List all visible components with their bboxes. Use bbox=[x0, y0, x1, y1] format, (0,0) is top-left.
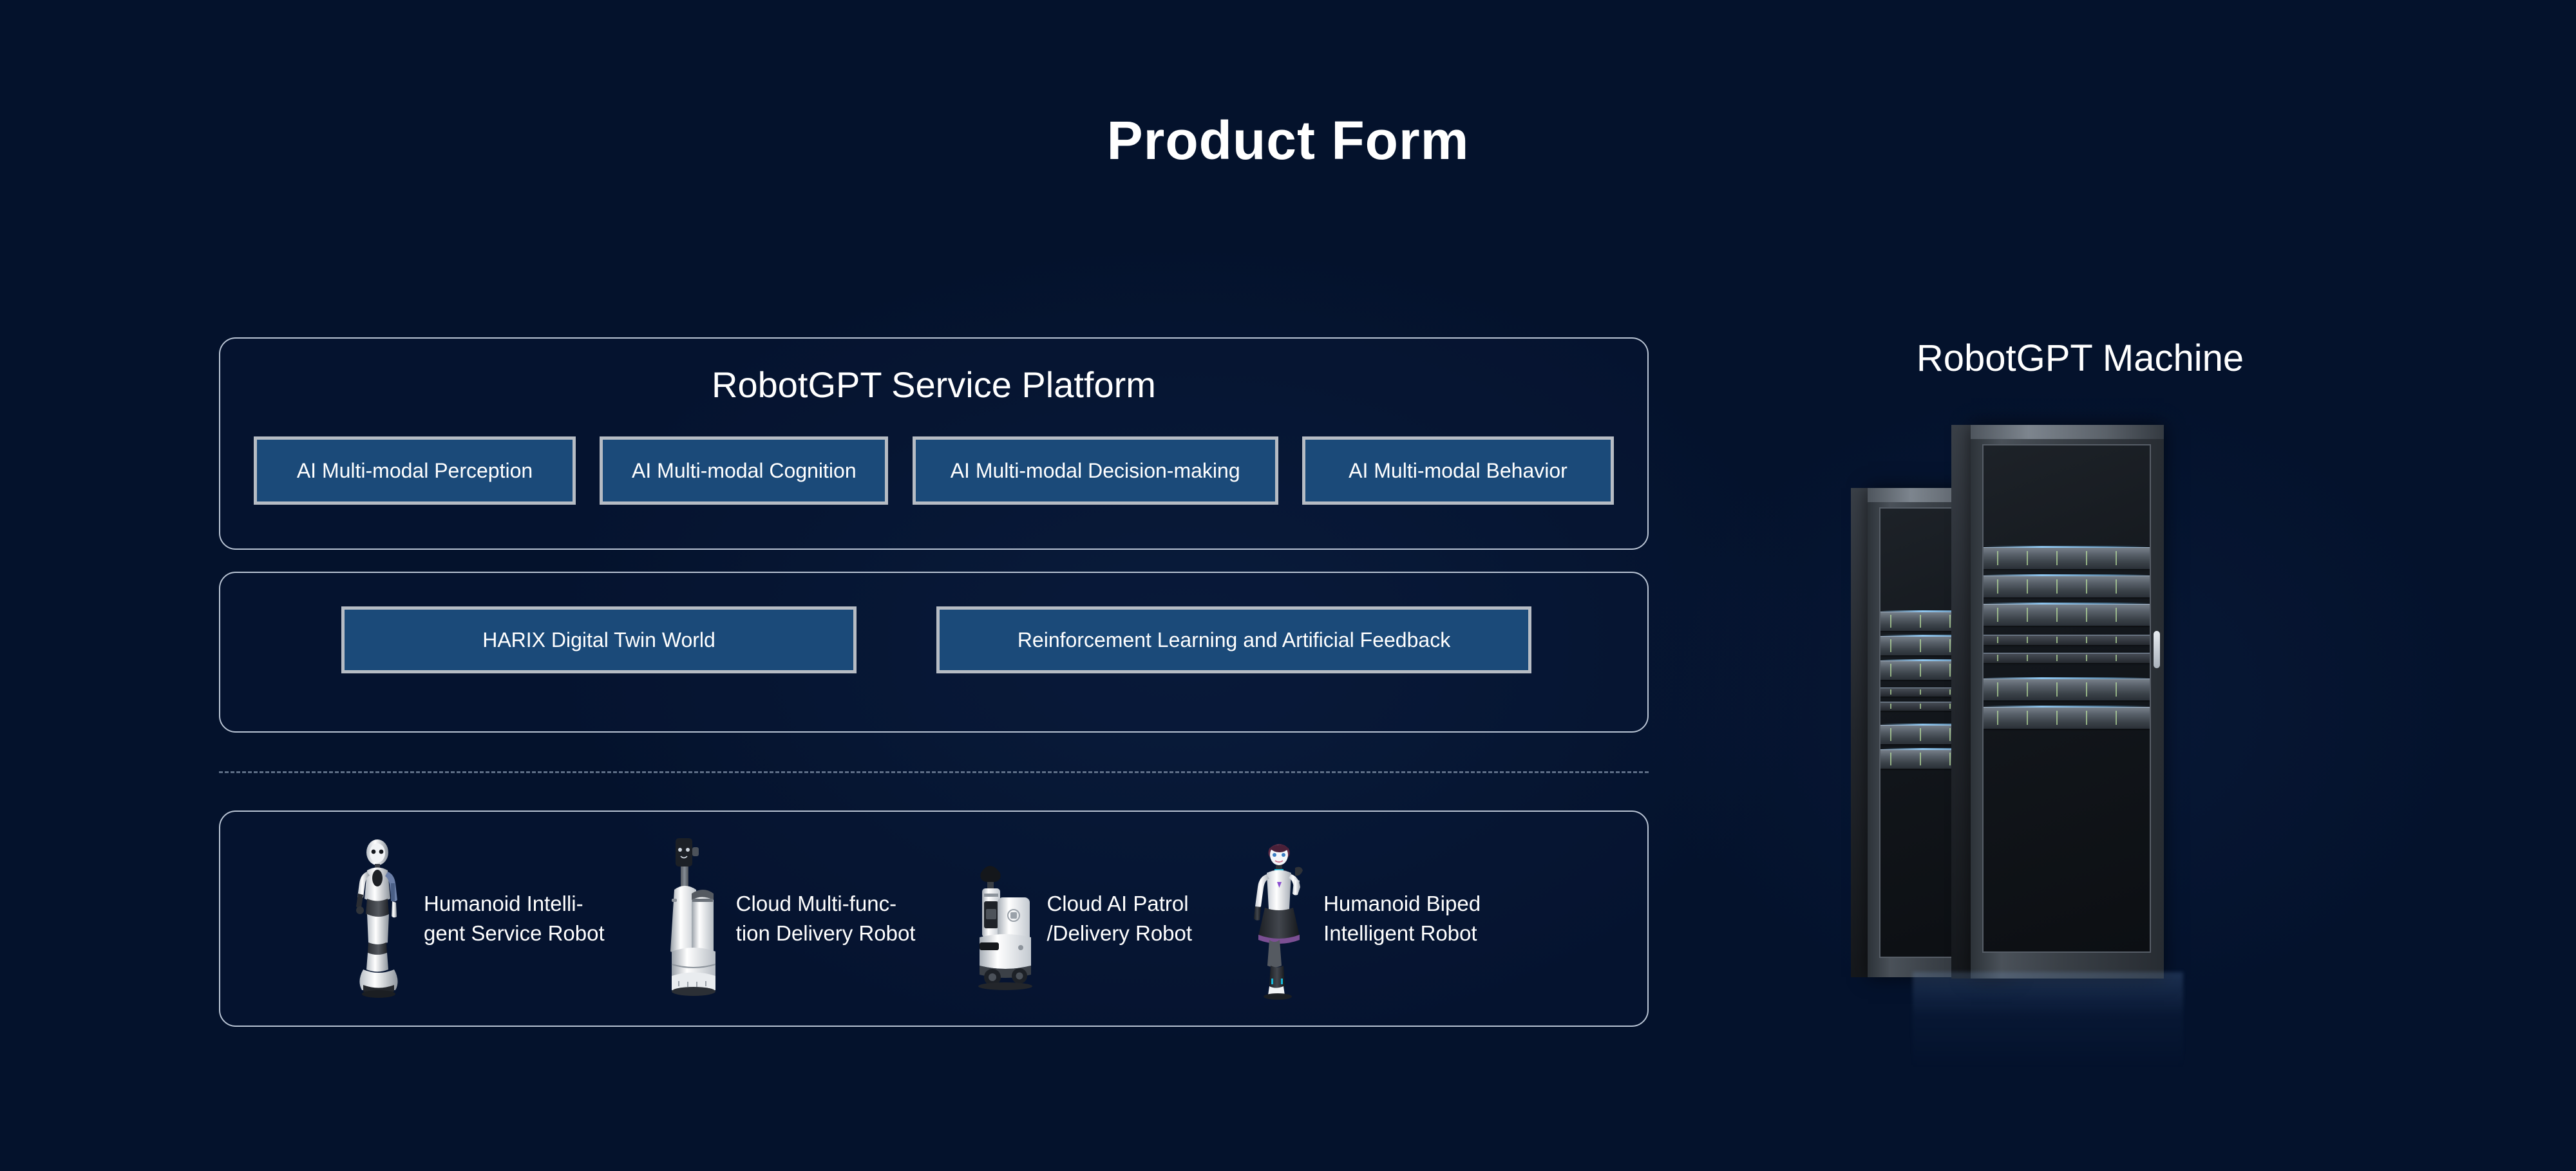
server-rack-icon bbox=[1842, 418, 2318, 1043]
chip-harix-digital-twin-world[interactable]: HARIX Digital Twin World bbox=[341, 606, 857, 673]
list-item[interactable]: Humanoid Intelli- gent Service Robot bbox=[341, 832, 605, 1006]
humanoid-biped-robot-icon bbox=[1241, 832, 1318, 1006]
platform-diagram: RobotGPT Service Platform AI Multi-modal… bbox=[219, 337, 1649, 1027]
list-item-label: Cloud AI Patrol /Delivery Robot bbox=[1046, 889, 1192, 948]
service-platform-panel: RobotGPT Service Platform AI Multi-modal… bbox=[219, 337, 1649, 550]
chip-reinforcement-learning[interactable]: Reinforcement Learning and Artificial Fe… bbox=[936, 606, 1531, 673]
machine-section: RobotGPT Machine bbox=[1842, 0, 2318, 1171]
list-item[interactable]: Cloud Multi-func- tion Delivery Robot bbox=[654, 832, 916, 1006]
foundation-panel: HARIX Digital Twin World Reinforcement L… bbox=[219, 572, 1649, 733]
robot-products-panel: Humanoid Intelli- gent Service Robot bbox=[219, 810, 1649, 1027]
machine-title: RobotGPT Machine bbox=[1842, 340, 2318, 377]
humanoid-service-robot-icon bbox=[341, 832, 419, 1006]
list-item-label: Humanoid Biped Intelligent Robot bbox=[1323, 889, 1481, 948]
server-rack-front bbox=[1951, 425, 2164, 979]
list-item-label: Cloud Multi-func- tion Delivery Robot bbox=[736, 889, 916, 948]
chip-ai-multimodal-perception[interactable]: AI Multi-modal Perception bbox=[254, 436, 576, 505]
cloud-delivery-robot-icon bbox=[654, 832, 731, 1006]
chip-ai-multimodal-decision-making[interactable]: AI Multi-modal Decision-making bbox=[913, 436, 1278, 505]
rack-reflection bbox=[1913, 972, 2183, 1069]
chip-ai-multimodal-cognition[interactable]: AI Multi-modal Cognition bbox=[600, 436, 888, 505]
chip-ai-multimodal-behavior[interactable]: AI Multi-modal Behavior bbox=[1302, 436, 1614, 505]
list-item[interactable]: Cloud AI Patrol /Delivery Robot bbox=[964, 832, 1192, 1006]
service-platform-title: RobotGPT Service Platform bbox=[220, 367, 1647, 403]
list-item[interactable]: Humanoid Biped Intelligent Robot bbox=[1241, 832, 1481, 1006]
robot-list: Humanoid Intelli- gent Service Robot bbox=[220, 812, 1647, 1026]
cloud-patrol-robot-icon bbox=[964, 832, 1041, 1006]
section-divider bbox=[219, 771, 1649, 773]
capability-chip-row: AI Multi-modal Perception AI Multi-modal… bbox=[220, 436, 1647, 505]
list-item-label: Humanoid Intelli- gent Service Robot bbox=[424, 889, 605, 948]
foundation-chip-row: HARIX Digital Twin World Reinforcement L… bbox=[220, 606, 1647, 673]
